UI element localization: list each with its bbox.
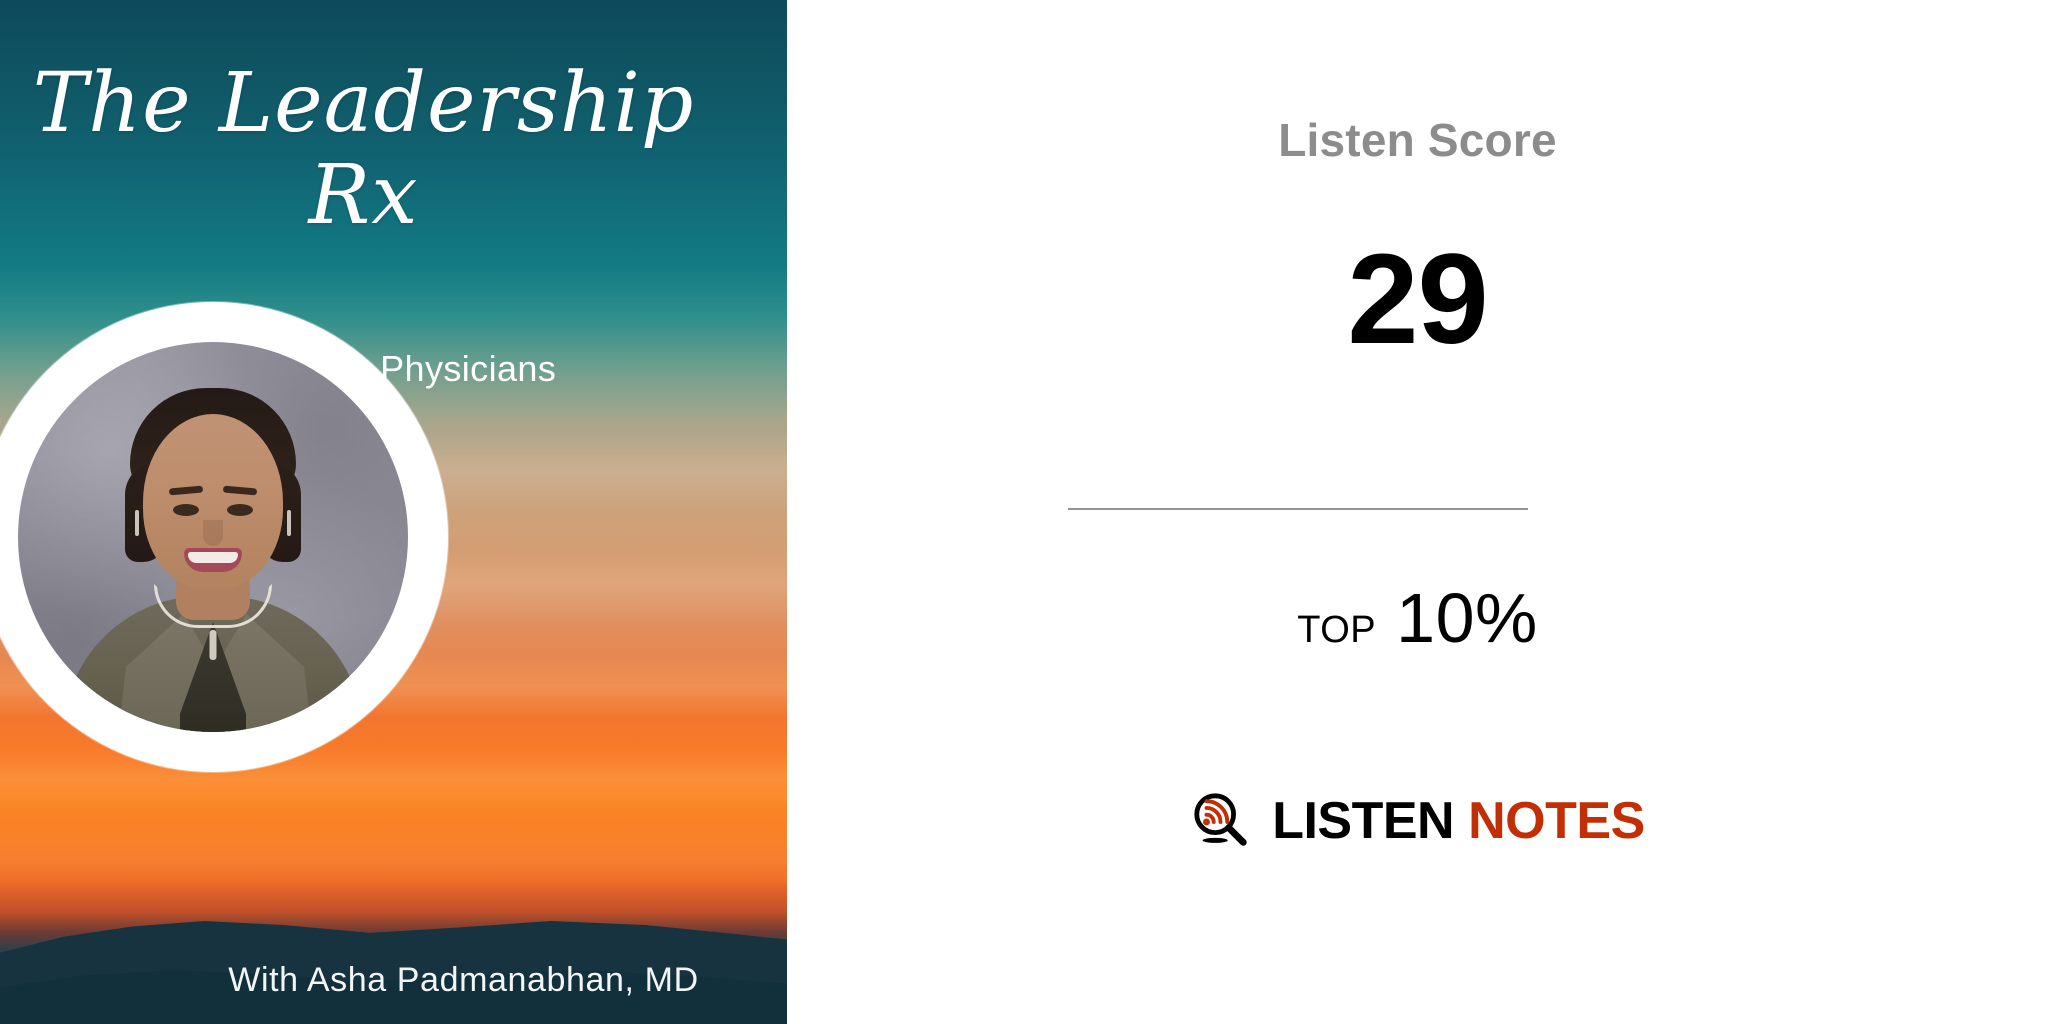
listen-score-value: 29 xyxy=(787,236,2048,364)
brand-wordmark: LISTENNOTES xyxy=(1272,795,1645,847)
podcast-title-line-2: Rx xyxy=(0,150,727,242)
host-portrait-photo xyxy=(18,342,408,732)
portrait-pendant xyxy=(210,630,217,660)
portrait-nose xyxy=(203,520,223,546)
rank-percentile: 10% xyxy=(1396,578,1538,658)
podcast-title: The Leadership Rx xyxy=(0,58,787,242)
listen-notes-magnifier-rss-icon xyxy=(1190,790,1252,852)
brand-word-notes: NOTES xyxy=(1468,792,1645,850)
listen-score-rank: TOP 10% xyxy=(787,578,2048,658)
portrait-earring-right xyxy=(287,510,291,536)
portrait-smile xyxy=(184,548,242,572)
brand-word-listen: LISTEN xyxy=(1272,792,1454,850)
score-divider-line xyxy=(1068,508,1528,510)
portrait-eye-right xyxy=(227,504,253,516)
podcast-host-caption: With Asha Padmanabhan, MD xyxy=(0,961,787,1000)
listen-score-panel: Listen Score 29 TOP 10% xyxy=(787,0,2048,1024)
host-portrait-ring xyxy=(0,302,448,772)
podcast-title-line-1: The Leadership xyxy=(0,58,727,150)
listen-score-card: The Leadership Rx For Women Physicians xyxy=(0,0,2048,1024)
rank-label: TOP xyxy=(1297,609,1376,652)
portrait-eye-left xyxy=(173,504,199,516)
listen-score-heading: Listen Score xyxy=(787,113,2048,167)
portrait-teeth xyxy=(188,552,238,563)
portrait-earring-left xyxy=(135,510,139,536)
listen-notes-logo[interactable]: LISTENNOTES xyxy=(787,790,2048,852)
podcast-cover-art[interactable]: The Leadership Rx For Women Physicians xyxy=(0,0,787,1024)
